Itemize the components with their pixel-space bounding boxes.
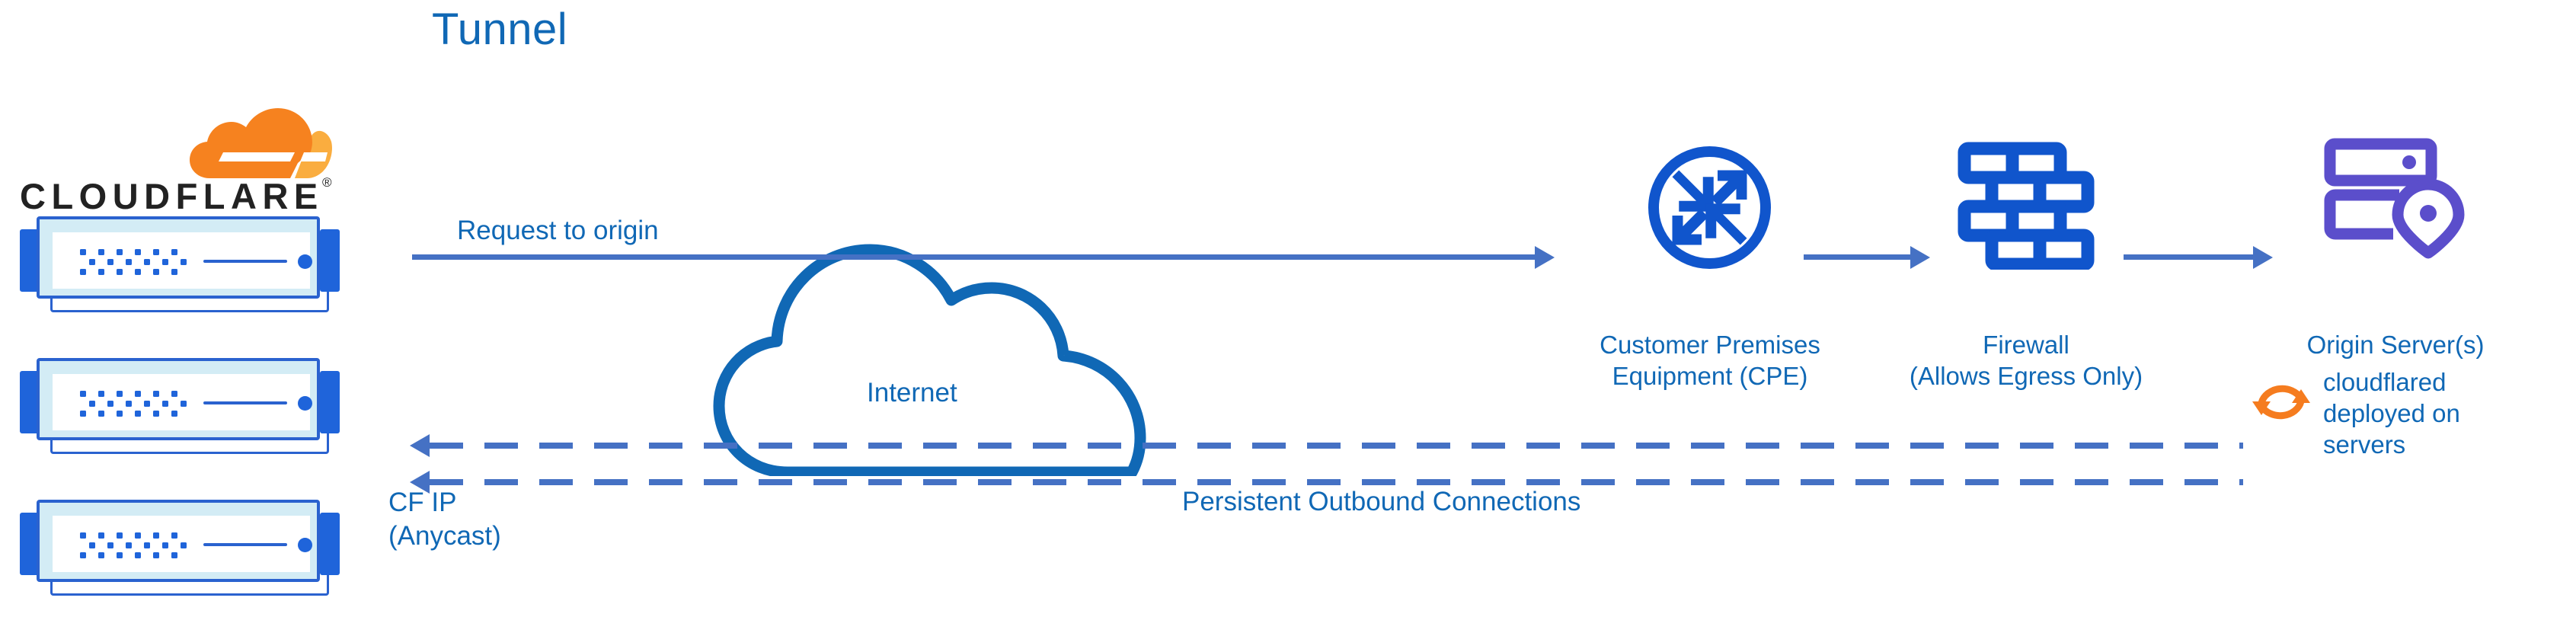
server-faceplate [53, 374, 310, 430]
page-title: Tunnel [432, 4, 567, 55]
list-item[interactable] [20, 215, 340, 312]
origin-server-label: Origin Server(s) [2232, 329, 2559, 360]
firewall-to-origin-arrowhead-icon [2253, 246, 2273, 269]
router-arrows-circle-icon[interactable] [1643, 141, 1776, 274]
sync-arrows-icon [2251, 372, 2312, 433]
registered-trademark-mark: ® [322, 175, 332, 190]
server-ear-right [320, 229, 340, 292]
diagram-canvas: Tunnel CLOUDFLARE ® [0, 0, 2576, 617]
brick-wall-icon[interactable] [1958, 142, 2095, 270]
server-chassis [37, 216, 320, 299]
cf-ip-anycast-label: CF IP (Anycast) [388, 486, 586, 553]
cloudflare-logo: CLOUDFLARE ® [20, 108, 340, 230]
cloud-outline-icon [708, 225, 1181, 476]
persistent-outbound-connections-label: Persistent Outbound Connections [1182, 487, 1580, 517]
list-item[interactable] [20, 356, 340, 454]
cloudflare-cloud-logo-icon [176, 108, 332, 178]
cloudflared-label: cloudflared deployed on servers [2323, 366, 2536, 460]
server-status-bar [203, 543, 287, 546]
cloudflared-line1: cloudflared [2323, 366, 2536, 398]
internet-label: Internet [867, 378, 957, 408]
cloudflare-wordmark: CLOUDFLARE [20, 175, 324, 217]
cloudflared-line2: deployed on [2323, 398, 2536, 429]
server-port-grid [80, 532, 181, 558]
firewall-label-line2: (Allows Egress Only) [1839, 360, 2213, 392]
server-port-grid [80, 391, 181, 417]
server-rack-pin-icon[interactable] [2323, 137, 2468, 259]
list-item[interactable] [20, 498, 340, 596]
server-faceplate [53, 232, 310, 289]
server-led-indicator [298, 396, 312, 411]
firewall-label-line1: Firewall [1839, 329, 2213, 360]
cpe-to-firewall-line [1804, 254, 1910, 260]
server-port-grid [80, 249, 181, 275]
cf-ip-line2: (Anycast) [388, 519, 586, 553]
server-ear-right [320, 371, 340, 433]
server-faceplate [53, 516, 310, 572]
return-lower-dashed-line [430, 479, 2243, 485]
request-flow-line [412, 254, 1535, 260]
cloudflared-line3: servers [2323, 429, 2536, 460]
server-ear-right [320, 513, 340, 575]
server-led-indicator [298, 538, 312, 552]
return-upper-dashed-line [430, 443, 2243, 449]
server-status-bar [203, 260, 287, 263]
request-to-origin-label: Request to origin [457, 216, 659, 246]
server-chassis [37, 500, 320, 582]
return-upper-arrowhead-icon [410, 434, 430, 457]
origin-label-line1: Origin Server(s) [2232, 329, 2559, 360]
server-chassis [37, 358, 320, 440]
server-led-indicator [298, 254, 312, 269]
firewall-label: Firewall (Allows Egress Only) [1839, 329, 2213, 392]
server-status-bar [203, 401, 287, 404]
request-flow-arrowhead-icon [1535, 246, 1555, 269]
cpe-to-firewall-arrowhead-icon [1910, 246, 1930, 269]
firewall-to-origin-line [2124, 254, 2253, 260]
cf-ip-line1: CF IP [388, 486, 586, 519]
